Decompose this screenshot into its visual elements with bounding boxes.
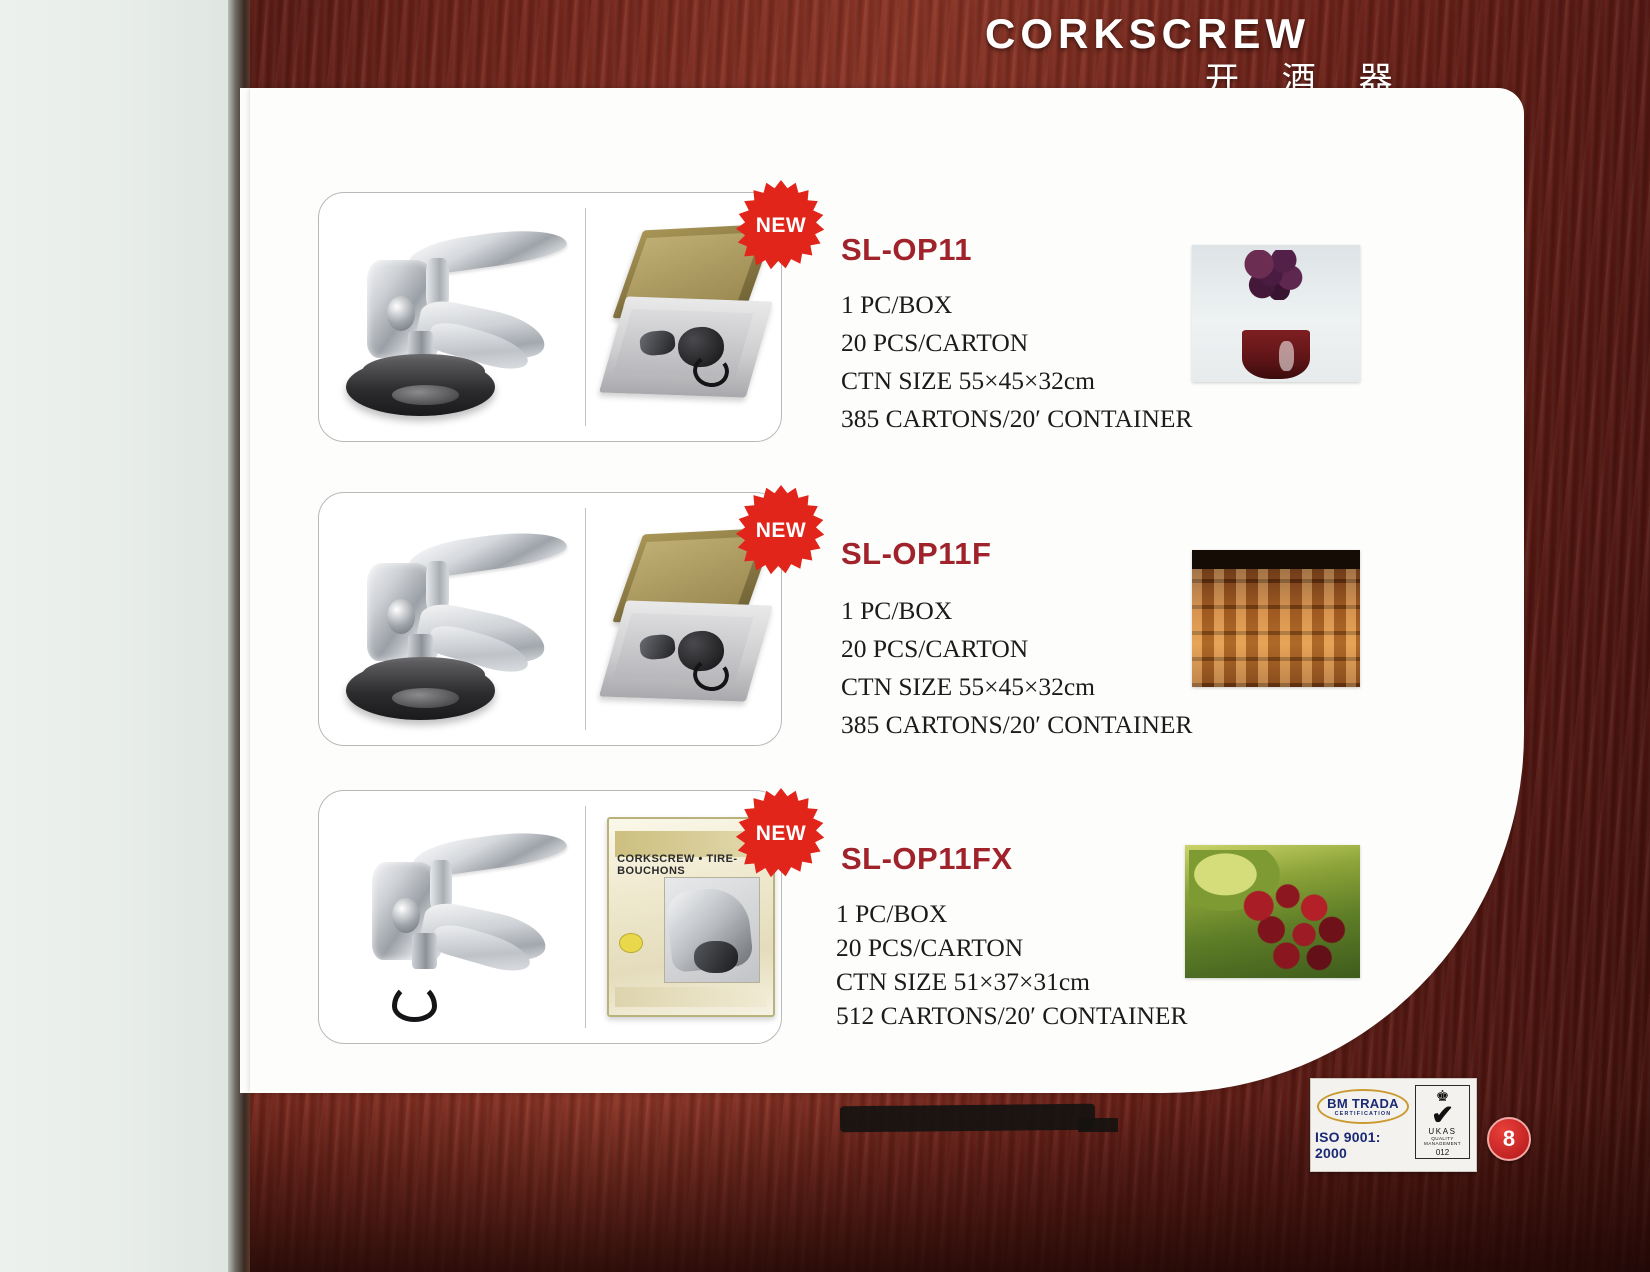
red-grape-vineyard-photo — [1185, 845, 1360, 978]
new-badge-label: NEW — [756, 214, 807, 238]
product-1-image-panel — [318, 192, 782, 442]
bm-trada-sub: CERTIFICATION — [1335, 1111, 1392, 1117]
page-title: CORKSCREW — [985, 10, 1310, 58]
product-1-code: SL-OP11 — [841, 232, 972, 268]
new-badge-label: NEW — [756, 519, 807, 543]
spec-line: CTN SIZE 55×45×32cm — [841, 668, 1192, 706]
spec-line: 385 CARTONS/20′ CONTAINER — [841, 400, 1192, 438]
spec-line: 1 PC/BOX — [836, 897, 1187, 931]
ukas-box: ♚ ✔ UKAS QUALITY MANAGEMENT 012 — [1415, 1085, 1470, 1159]
grapes-and-wine-glass-photo — [1192, 245, 1360, 382]
corkscrew-product-photo — [331, 207, 587, 429]
ukas-number: 012 — [1416, 1148, 1469, 1157]
wine-barrel-cellar-photo — [1192, 550, 1360, 687]
new-badge-product-2: NEW — [735, 485, 827, 577]
scan-artifact-smudge — [840, 1104, 1095, 1133]
corkscrew-product-photo — [331, 509, 587, 733]
ukas-logo: ♚ ✔ UKAS QUALITY MANAGEMENT 012 — [1411, 1079, 1475, 1171]
new-badge-product-3: NEW — [735, 788, 827, 880]
bm-trada-name: BM TRADA — [1327, 1097, 1399, 1110]
bm-trada-oval-icon: BM TRADA CERTIFICATION — [1317, 1089, 1409, 1124]
spec-line: CTN SIZE 51×37×31cm — [836, 965, 1187, 999]
spec-line: 1 PC/BOX — [841, 286, 1192, 324]
certification-badge: BM TRADA CERTIFICATION ISO 9001: 2000 ♚ … — [1310, 1078, 1477, 1172]
spec-line: 20 PCS/CARTON — [841, 630, 1192, 668]
product-1-specs: 1 PC/BOX 20 PCS/CARTON CTN SIZE 55×45×32… — [841, 286, 1192, 438]
spec-line: 1 PC/BOX — [841, 592, 1192, 630]
product-3-specs: 1 PC/BOX 20 PCS/CARTON CTN SIZE 51×37×31… — [836, 897, 1187, 1033]
new-badge-product-1: NEW — [735, 180, 827, 272]
spec-line: 512 CARTONS/20′ CONTAINER — [836, 999, 1187, 1033]
page-number: 8 — [1487, 1117, 1531, 1161]
catalog-page: CORKSCREW 开 酒 器 NEW SL-OP11 1 PC/BOX 20 … — [0, 0, 1650, 1272]
checkmark-icon: ✔ — [1431, 1105, 1454, 1127]
scan-artifact-smudge-2 — [1078, 1118, 1118, 1132]
ukas-line2: MANAGEMENT — [1424, 1141, 1461, 1147]
bm-trada-logo: BM TRADA CERTIFICATION ISO 9001: 2000 — [1311, 1079, 1411, 1171]
spec-line: 20 PCS/CARTON — [841, 324, 1192, 362]
product-3-code: SL-OP11FX — [841, 841, 1013, 877]
product-2-specs: 1 PC/BOX 20 PCS/CARTON CTN SIZE 55×45×32… — [841, 592, 1192, 744]
product-2-code: SL-OP11F — [841, 536, 991, 572]
ukas-name: UKAS — [1428, 1127, 1456, 1136]
product-3-image-panel: CORKSCREW • TIRE-BOUCHONS — [318, 790, 782, 1044]
spec-line: 385 CARTONS/20′ CONTAINER — [841, 706, 1192, 744]
spec-line: CTN SIZE 55×45×32cm — [841, 362, 1192, 400]
product-2-image-panel — [318, 492, 782, 746]
corkscrew-product-photo — [337, 809, 587, 1031]
new-badge-label: NEW — [756, 822, 807, 846]
spec-line: 20 PCS/CARTON — [836, 931, 1187, 965]
iso-standard-label: ISO 9001: 2000 — [1315, 1129, 1411, 1161]
left-margin-strip — [0, 0, 232, 1272]
